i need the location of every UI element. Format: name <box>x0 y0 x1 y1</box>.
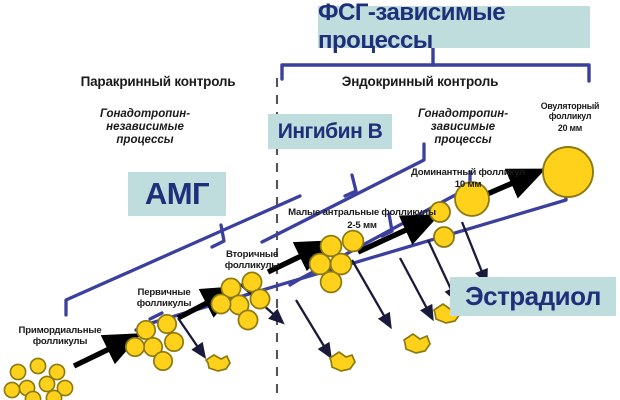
endocrine-control-header: Эндокринный контроль <box>320 74 520 89</box>
follicle-size-small-antral: 2-5 мм <box>312 221 412 232</box>
estradiol-box: Эстрадиол <box>450 277 616 316</box>
follicle-label-dominant: Доминантный фолликул <box>392 168 544 179</box>
atretic-blob-1 <box>206 355 230 371</box>
follicle-label-primary: Первичные фолликулы <box>108 288 220 309</box>
follicle-cluster-primordial <box>4 358 72 400</box>
atresia-arrow-7 <box>462 222 486 282</box>
follicle-size-dominant: 10 мм <box>418 180 518 191</box>
paracrine-control-header: Паракринный контроль <box>58 74 258 89</box>
atretic-blob-2 <box>330 352 355 371</box>
follicle-size-ovulatory: 20 мм <box>528 124 612 134</box>
atresia-arrow-3 <box>296 300 330 356</box>
gonadotropin-dependent-label: Гонадотропин- зависимые процессы <box>398 108 528 147</box>
fsh-dependent-processes-box: ФСГ-зависимые процессы <box>318 6 590 48</box>
follicle-ovulatory <box>543 147 593 197</box>
amh-box: АМГ <box>128 172 226 216</box>
inhibin-b-box: Ингибин В <box>268 114 392 149</box>
follicle-label-ovulatory: Овуляторный фолликул <box>528 102 612 122</box>
atresia-arrow-5 <box>400 258 432 318</box>
atresia-arrow-4 <box>352 260 390 326</box>
gonadotropin-independent-label: Гонадотропин- независимые процессы <box>70 108 220 147</box>
follicle-label-primordial: Примордиальные фолликулы <box>0 326 124 347</box>
dominant-satellite-2 <box>434 227 454 247</box>
follicle-cluster-secondary <box>211 272 269 329</box>
follicle-label-secondary: Вторичные фолликулы <box>196 250 308 271</box>
atretic-blob-3 <box>404 334 430 353</box>
follicle-label-small-antral: Малые антральные фолликулы <box>276 208 448 219</box>
follicle-development-diagram: ФСГ-зависимые процессы Ингибин В АМГ Эст… <box>0 0 620 400</box>
